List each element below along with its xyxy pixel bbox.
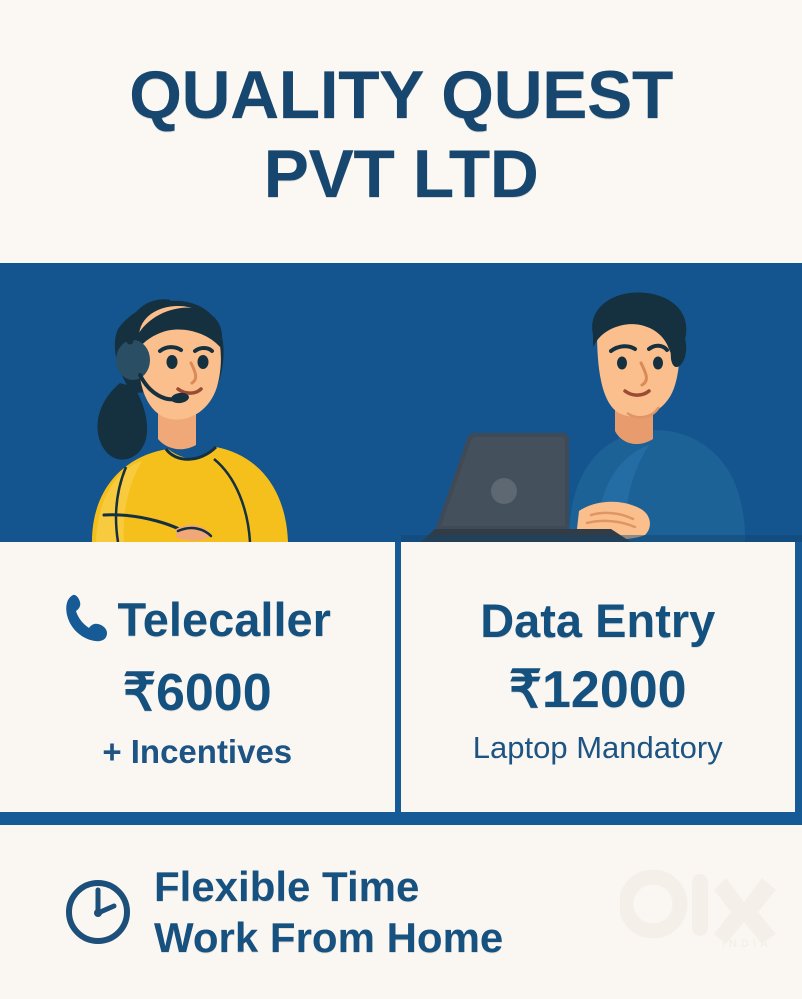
poster-header: QUALITY QUEST PVT LTD — [0, 0, 802, 263]
footer-line-1: Flexible Time — [154, 861, 503, 912]
illustration-band — [0, 263, 802, 542]
telecaller-note: + Incentives — [102, 735, 292, 768]
job-cards-row: Telecaller ₹6000 + Incentives Data Entry… — [0, 542, 802, 812]
poster-footer: Flexible Time Work From Home — [0, 825, 802, 999]
data-entry-title-row: Data Entry — [480, 597, 715, 644]
phone-handset-icon — [64, 592, 108, 647]
job-card-telecaller[interactable]: Telecaller ₹6000 + Incentives — [0, 542, 395, 812]
telecaller-title: Telecaller — [118, 596, 331, 643]
data-entry-title: Data Entry — [480, 597, 715, 644]
telecaller-title-row: Telecaller — [64, 592, 331, 647]
job-card-data-entry[interactable]: Data Entry ₹12000 Laptop Mandatory — [395, 542, 802, 812]
clock-icon — [62, 876, 134, 953]
footer-line-2: Work From Home — [154, 912, 503, 963]
section-divider — [0, 812, 802, 825]
telecaller-illustration — [0, 263, 401, 542]
footer-text-block: Flexible Time Work From Home — [154, 861, 503, 963]
data-entry-illustration — [401, 263, 802, 542]
data-entry-note: Laptop Mandatory — [473, 732, 723, 763]
data-entry-salary: ₹12000 — [509, 664, 687, 716]
job-advertisement-poster: QUALITY QUEST PVT LTD — [0, 0, 802, 999]
telecaller-salary: ₹6000 — [123, 667, 272, 719]
company-name-line-2: PVT LTD — [264, 141, 539, 208]
company-name-line-1: QUALITY QUEST — [129, 62, 673, 129]
